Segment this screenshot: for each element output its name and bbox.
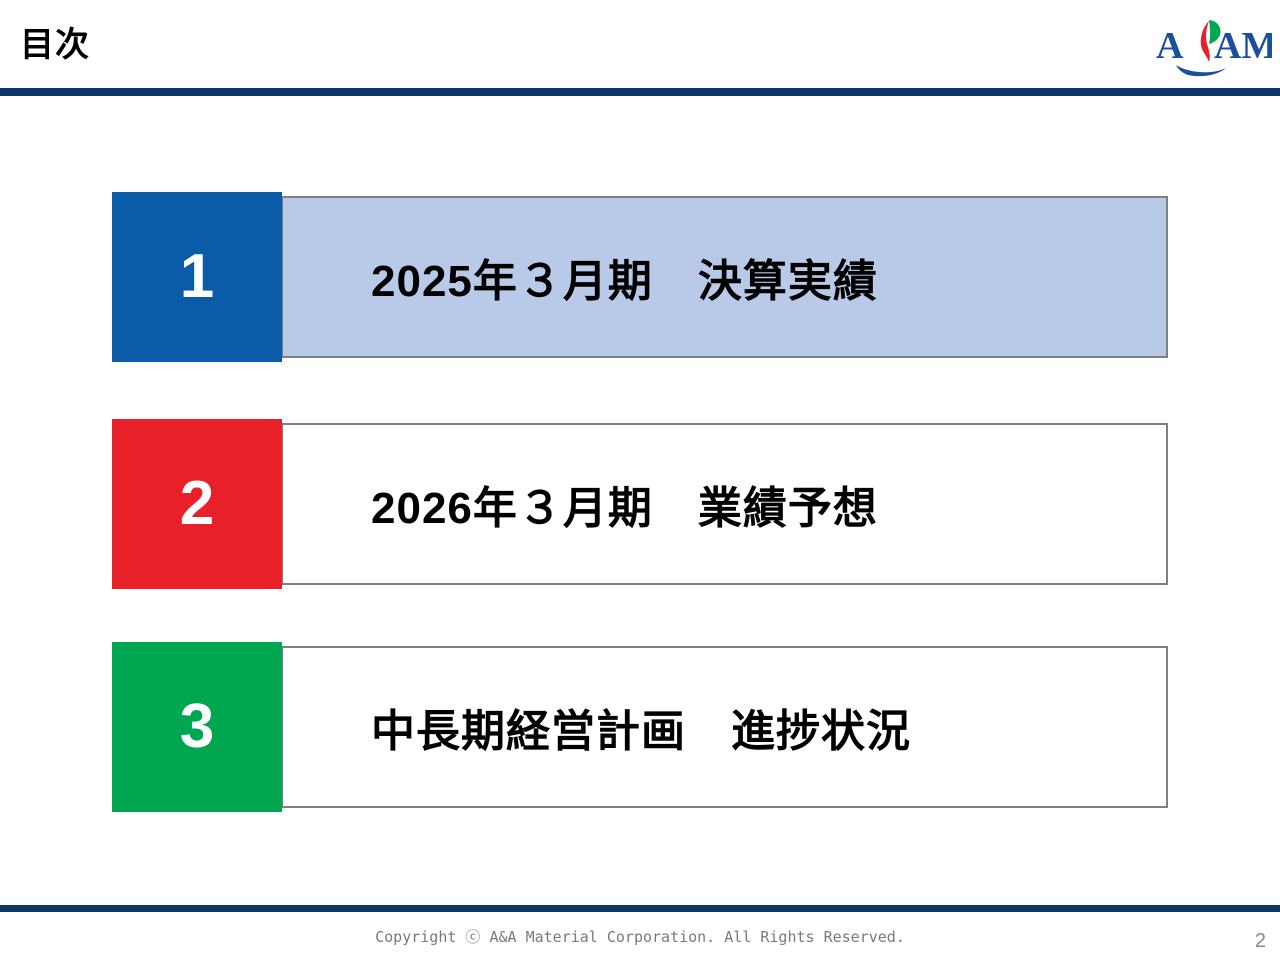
toc-row-2-number: 2 bbox=[180, 473, 214, 535]
footer-divider bbox=[0, 905, 1280, 912]
header-divider bbox=[0, 88, 1280, 96]
toc-row-3[interactable]: 中長期経営計画 進捗状況 3 bbox=[112, 642, 1168, 812]
logo-letters-am: AM bbox=[1214, 25, 1272, 67]
toc-row-2[interactable]: 2026年３月期 業績予想 2 bbox=[112, 419, 1168, 589]
page-number: 2 bbox=[1255, 930, 1266, 953]
logo-letter-a: A bbox=[1156, 25, 1184, 67]
toc-row-1-label: 2025年３月期 決算実績 bbox=[283, 245, 878, 309]
toc-row-2-label: 2026年３月期 業績予想 bbox=[283, 472, 878, 536]
toc-row-3-label: 中長期経営計画 進捗状況 bbox=[283, 695, 911, 759]
page-title: 目次 bbox=[20, 28, 90, 62]
toc-row-3-body: 中長期経営計画 進捗状況 bbox=[281, 646, 1168, 808]
toc-row-1-number-box: 1 bbox=[112, 192, 282, 362]
toc-row-3-number-box: 3 bbox=[112, 642, 282, 812]
toc-row-1[interactable]: 2025年３月期 決算実績 1 bbox=[112, 192, 1168, 362]
toc-row-1-body: 2025年３月期 決算実績 bbox=[281, 196, 1168, 358]
footer-copyright: Copyright ⓒ A&A Material Corporation. Al… bbox=[0, 926, 1280, 947]
toc-row-2-number-box: 2 bbox=[112, 419, 282, 589]
aam-logo: A AM bbox=[1152, 8, 1272, 78]
toc-row-3-number: 3 bbox=[180, 696, 214, 758]
slide-header: 目次 A AM bbox=[0, 0, 1280, 88]
logo-flame-shape bbox=[1201, 21, 1210, 62]
toc-row-1-number: 1 bbox=[180, 246, 214, 308]
toc-row-2-body: 2026年３月期 業績予想 bbox=[281, 423, 1168, 585]
toc-list: 2025年３月期 決算実績 1 2026年３月期 業績予想 2 中長期経営計画 … bbox=[0, 96, 1280, 896]
aam-logo-svg: A AM bbox=[1152, 8, 1272, 78]
